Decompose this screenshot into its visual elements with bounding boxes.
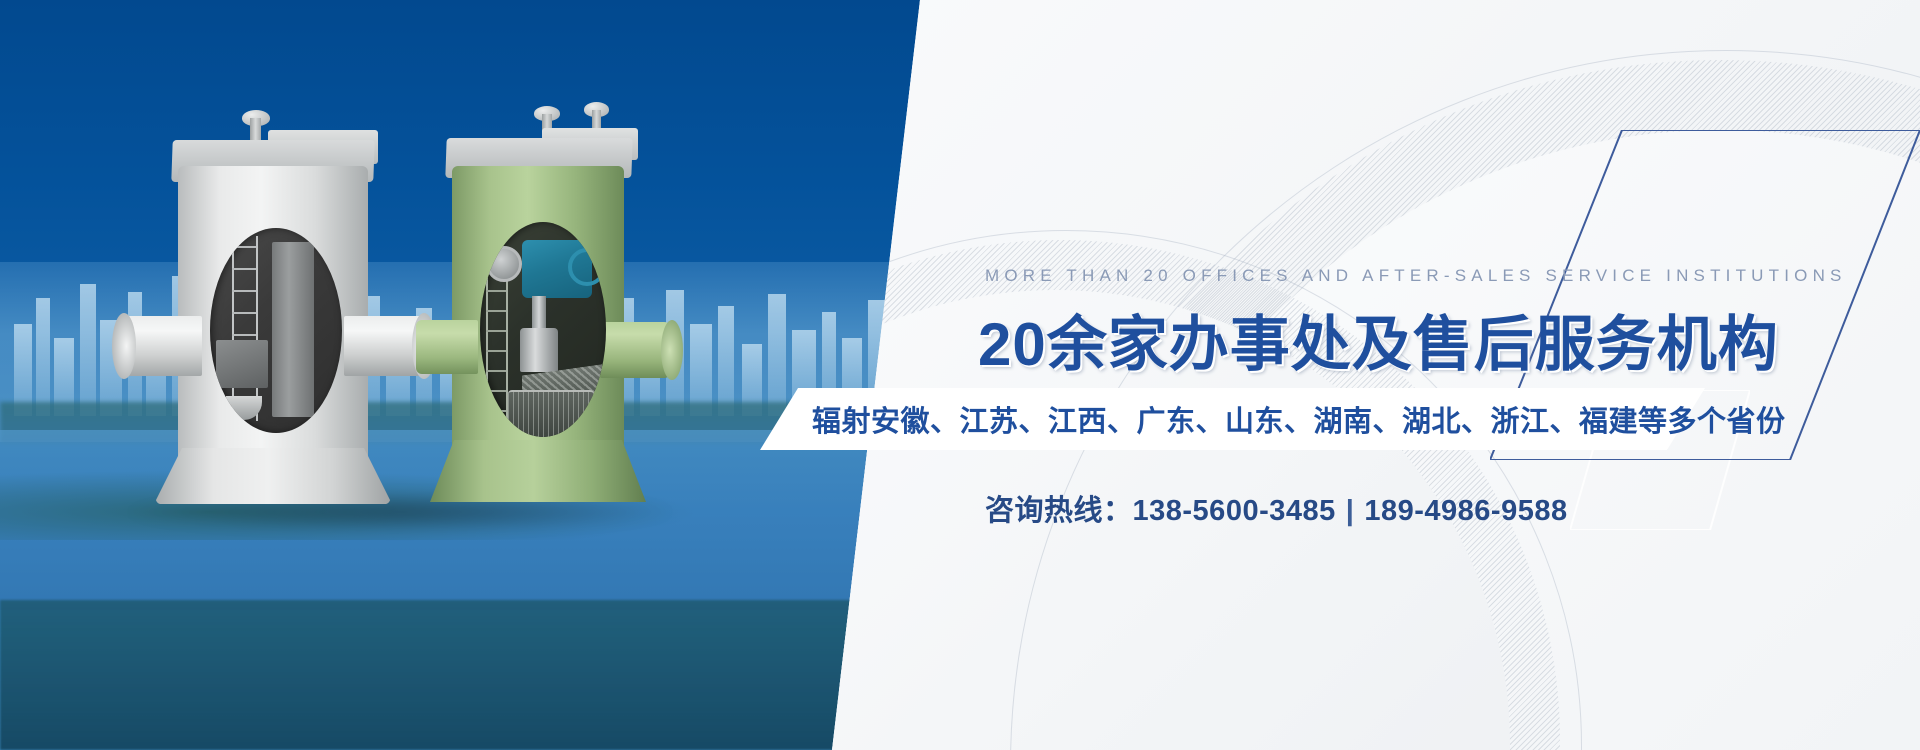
green-internal-ladder: [486, 262, 508, 422]
green-teal-valve-assembly: [522, 240, 592, 298]
green-pump-body: [520, 328, 558, 372]
product-gray-pump-station: [148, 118, 398, 508]
hotline-label: 咨询热线：: [985, 495, 1133, 527]
hotline-phone-1[interactable]: 138-5600-3485: [1133, 495, 1336, 527]
green-tank-base: [430, 440, 646, 502]
gray-tank-base: [154, 448, 392, 504]
green-filter-cage: [508, 390, 594, 437]
gray-cutaway-window: [210, 228, 342, 433]
green-cutaway-window: [480, 222, 606, 437]
green-outlet-pipe: [600, 322, 672, 378]
hotline-phone-2[interactable]: 189-4986-9588: [1364, 495, 1567, 527]
green-inlet-pipe: [416, 320, 478, 374]
green-pipe-flange: [486, 246, 522, 282]
province-coverage-text: 辐射安徽、江苏、江西、广东、山东、湖南、湖北、浙江、福建等多个省份: [812, 398, 1786, 440]
foreground-foliage: [0, 600, 920, 750]
eyebrow-english-subtitle: MORE THAN 20 OFFICES AND AFTER-SALES SER…: [985, 266, 1847, 286]
gray-internal-ladder: [232, 236, 258, 421]
gray-internal-panel: [216, 340, 268, 388]
gray-inlet-pipe: [124, 316, 202, 376]
gray-internal-rail: [272, 242, 314, 417]
product-green-pump-station: [424, 110, 654, 510]
page-title: 20余家办事处及售后服务机构: [978, 296, 1779, 383]
promo-banner: MORE THAN 20 OFFICES AND AFTER-SALES SER…: [0, 0, 1920, 750]
hotline-row: 咨询热线：138-5600-3485|189-4986-9588: [985, 487, 1568, 529]
gray-outlet-pipe: [344, 316, 424, 376]
hotline-separator: |: [1336, 495, 1365, 527]
